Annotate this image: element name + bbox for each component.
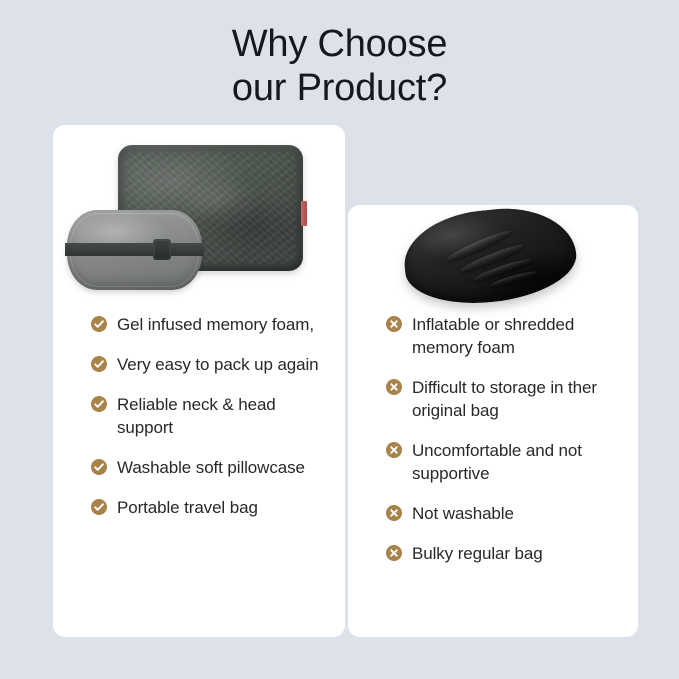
list-item-label: Uncomfortable and not supportive	[412, 439, 624, 485]
list-item-label: Very easy to pack up again	[117, 353, 319, 376]
list-item: Uncomfortable and not supportive	[386, 439, 624, 485]
list-item: Gel infused memory foam,	[91, 313, 331, 336]
list-item-label: Not washable	[412, 502, 514, 525]
pros-list: Gel infused memory foam, Very easy to pa…	[91, 313, 331, 519]
list-item-label: Difficult to storage in ther original ba…	[412, 376, 624, 422]
other-product-card: Inflatable or shredded memory foam Diffi…	[348, 205, 638, 637]
cross-icon	[386, 442, 402, 458]
list-item: Very easy to pack up again	[91, 353, 331, 376]
bag-strap	[65, 243, 204, 256]
cross-icon	[386, 545, 402, 561]
list-item-label: Portable travel bag	[117, 496, 258, 519]
check-icon	[91, 499, 107, 515]
list-item-label: Inflatable or shredded memory foam	[412, 313, 624, 359]
cross-icon	[386, 505, 402, 521]
our-product-card: Gel infused memory foam, Very easy to pa…	[53, 125, 345, 637]
list-item: Inflatable or shredded memory foam	[386, 313, 624, 359]
list-item-label: Gel infused memory foam,	[117, 313, 314, 336]
check-icon	[91, 356, 107, 372]
list-item: Reliable neck & head support	[91, 393, 331, 439]
list-item-label: Bulky regular bag	[412, 542, 543, 565]
cross-icon	[386, 379, 402, 395]
list-item: Portable travel bag	[91, 496, 331, 519]
brand-tag	[301, 201, 307, 226]
check-icon	[91, 459, 107, 475]
check-icon	[91, 316, 107, 332]
list-item: Washable soft pillowcase	[91, 456, 331, 479]
page-title-line-1: Why Choose	[0, 22, 679, 66]
list-item: Not washable	[386, 502, 624, 525]
page-title-line-2: our Product?	[0, 66, 679, 110]
cons-list: Inflatable or shredded memory foam Diffi…	[386, 313, 624, 565]
cross-icon	[386, 316, 402, 332]
list-item: Difficult to storage in ther original ba…	[386, 376, 624, 422]
bag-buckle-icon	[153, 239, 171, 260]
travel-bag-image	[67, 210, 202, 290]
list-item-label: Washable soft pillowcase	[117, 456, 305, 479]
check-icon	[91, 396, 107, 412]
inflatable-pillow-image	[400, 205, 581, 311]
list-item: Bulky regular bag	[386, 542, 624, 565]
list-item-label: Reliable neck & head support	[117, 393, 331, 439]
page-title: Why Choose our Product?	[0, 22, 679, 110]
other-product-image	[348, 205, 638, 305]
our-product-image	[53, 125, 345, 303]
